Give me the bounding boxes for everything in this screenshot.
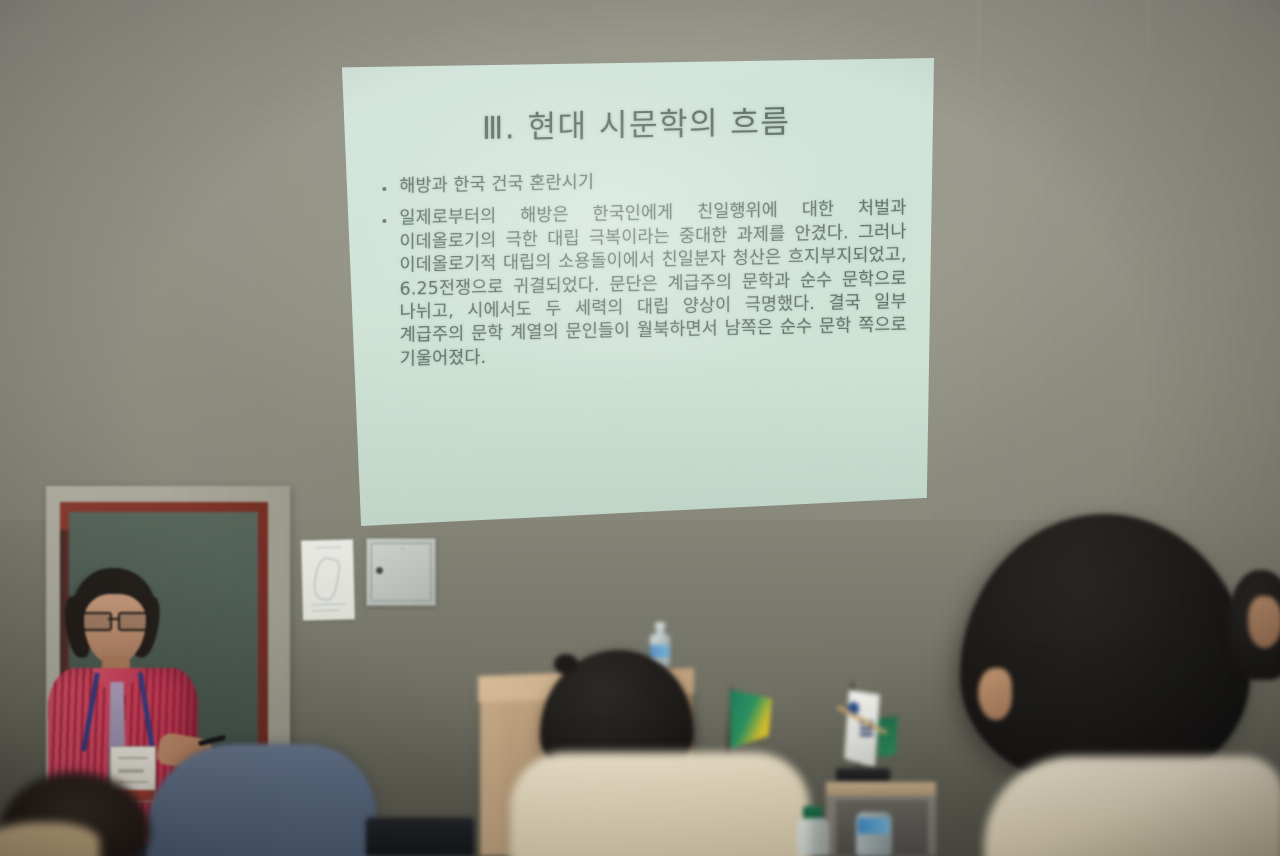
laptop <box>366 818 474 856</box>
panel-knob-icon <box>376 567 383 574</box>
glasses-lens-left <box>82 612 112 631</box>
bullet-dot-icon <box>382 219 386 223</box>
badge-text-line <box>118 769 144 773</box>
slide-content: Ⅲ. 현대 시문학의 흐름 해방과 한국 건국 혼란시기 일제로부터의 해방은 … <box>336 58 934 526</box>
panel-label: ▭ <box>401 546 405 551</box>
green-flag-behind <box>878 716 898 758</box>
glasses-icon <box>81 612 149 627</box>
chair-back-cream-right <box>984 756 1280 856</box>
green-yellow-flag <box>726 686 774 760</box>
bottle-label <box>858 818 890 834</box>
chair-back-cream-center <box>510 752 810 856</box>
bullet-dot-icon <box>382 187 386 191</box>
lecture-hall-photo: Ⅲ. 현대 시문학의 흐름 해방과 한국 건국 혼란시기 일제로부터의 해방은 … <box>0 0 1280 856</box>
badge-text-line <box>118 757 148 759</box>
notice-line <box>312 604 346 606</box>
audience-shoulder-bottom-left <box>0 822 100 856</box>
glasses-bridge <box>108 618 118 620</box>
flag-cloth <box>730 690 772 752</box>
notice-floorplan-shape <box>311 556 341 602</box>
notice-line <box>312 610 340 612</box>
glasses-lens-right <box>118 612 148 631</box>
slide-bullet-text: 해방과 한국 건국 혼란시기 <box>399 172 594 199</box>
flag-stand-base <box>836 768 890 782</box>
wall-notice-paper <box>301 539 355 620</box>
slide-bullet-text: 일제로부터의 해방은 한국인에게 친일행위에 대한 처벌과 이데올로기의 극한 … <box>399 197 906 371</box>
slide-bullet-item: 일제로부터의 해방은 한국인에게 친일행위에 대한 처벌과 이데올로기의 극한 … <box>366 197 906 372</box>
hair-tuft <box>554 654 578 674</box>
audience-ear <box>978 668 1012 720</box>
wall-streak <box>978 0 980 120</box>
wall-streak <box>1148 0 1150 88</box>
slide-bullet-item: 해방과 한국 건국 혼란시기 <box>366 165 906 200</box>
korean-flag-on-stand <box>826 682 896 782</box>
notice-line <box>315 547 341 549</box>
bottle-label <box>650 645 670 658</box>
water-bottle-green-cap <box>796 806 830 856</box>
projected-slide-screen: Ⅲ. 현대 시문학의 흐름 해방과 한국 건국 혼란시기 일제로부터의 해방은 … <box>336 58 934 526</box>
slide-bullet-list: 해방과 한국 건국 혼란시기 일제로부터의 해방은 한국인에게 친일행위에 대한… <box>366 165 907 373</box>
wall-access-panel: ▭ <box>366 538 436 606</box>
slide-title: Ⅲ. 현대 시문학의 흐름 <box>366 94 906 150</box>
audience-face-far-right <box>1248 596 1280 648</box>
badge-text-line <box>118 781 148 783</box>
water-bottle-blue-label <box>856 812 892 856</box>
bottle-body <box>797 818 829 856</box>
